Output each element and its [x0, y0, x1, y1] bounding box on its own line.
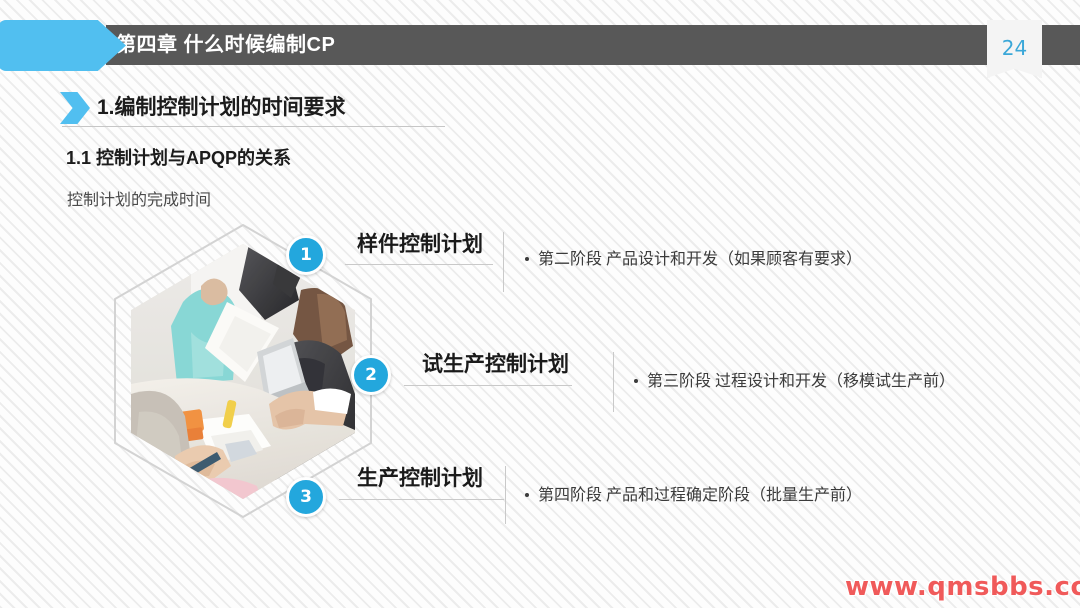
stage-number-2[interactable]: 2: [351, 355, 391, 395]
stage-underline-3: [339, 499, 504, 500]
stage-bullet-1: 第二阶段 产品设计和开发（如果顾客有要求）: [525, 245, 862, 269]
stage-bullet-text-2: 第三阶段 过程设计和开发（移模试生产前）: [647, 373, 955, 390]
page-number-value: 24: [987, 36, 1042, 60]
stage-divider-3: [505, 466, 506, 524]
chapter-title: 第四章 什么时候编制CP: [116, 25, 335, 65]
bullet-dot-icon: [634, 379, 638, 383]
stage-divider-2: [613, 352, 614, 412]
stage-label-1: 样件控制计划: [357, 228, 483, 258]
page-number-badge: 24: [987, 20, 1042, 78]
hexagon-photo-group: [112, 222, 374, 520]
section-heading-rule: [62, 126, 445, 127]
stage-bullet-2: 第三阶段 过程设计和开发（移模试生产前）: [634, 367, 955, 391]
stage-label-2: 试生产控制计划: [422, 348, 569, 378]
stage-underline-1: [345, 264, 493, 265]
stage-bullet-text-1: 第二阶段 产品设计和开发（如果顾客有要求）: [538, 251, 862, 268]
stage-number-1[interactable]: 1: [286, 235, 326, 275]
bullet-dot-icon: [525, 493, 529, 497]
stage-bullet-3: 第四阶段 产品和过程确定阶段（批量生产前）: [525, 481, 862, 505]
stage-underline-2: [404, 385, 572, 386]
stage-number-3[interactable]: 3: [286, 477, 326, 517]
stage-label-3: 生产控制计划: [357, 462, 483, 492]
chapter-header-band: 第四章 什么时候编制CP: [106, 25, 1080, 65]
section-subheading: 1.1 控制计划与APQP的关系: [66, 144, 291, 170]
slide-canvas: 第四章 什么时候编制CP 24 1.编制控制计划的时间要求 1.1 控制计划与A…: [0, 0, 1080, 608]
bullet-dot-icon: [525, 257, 529, 261]
section-note: 控制计划的完成时间: [67, 186, 211, 210]
chevron-right-icon: [60, 92, 90, 124]
section-heading: 1.编制控制计划的时间要求: [97, 91, 346, 121]
stage-bullet-text-3: 第四阶段 产品和过程确定阶段（批量生产前）: [538, 487, 862, 504]
stage-divider-1: [503, 232, 504, 292]
site-watermark: www.qmsbbs.com: [845, 572, 1080, 602]
